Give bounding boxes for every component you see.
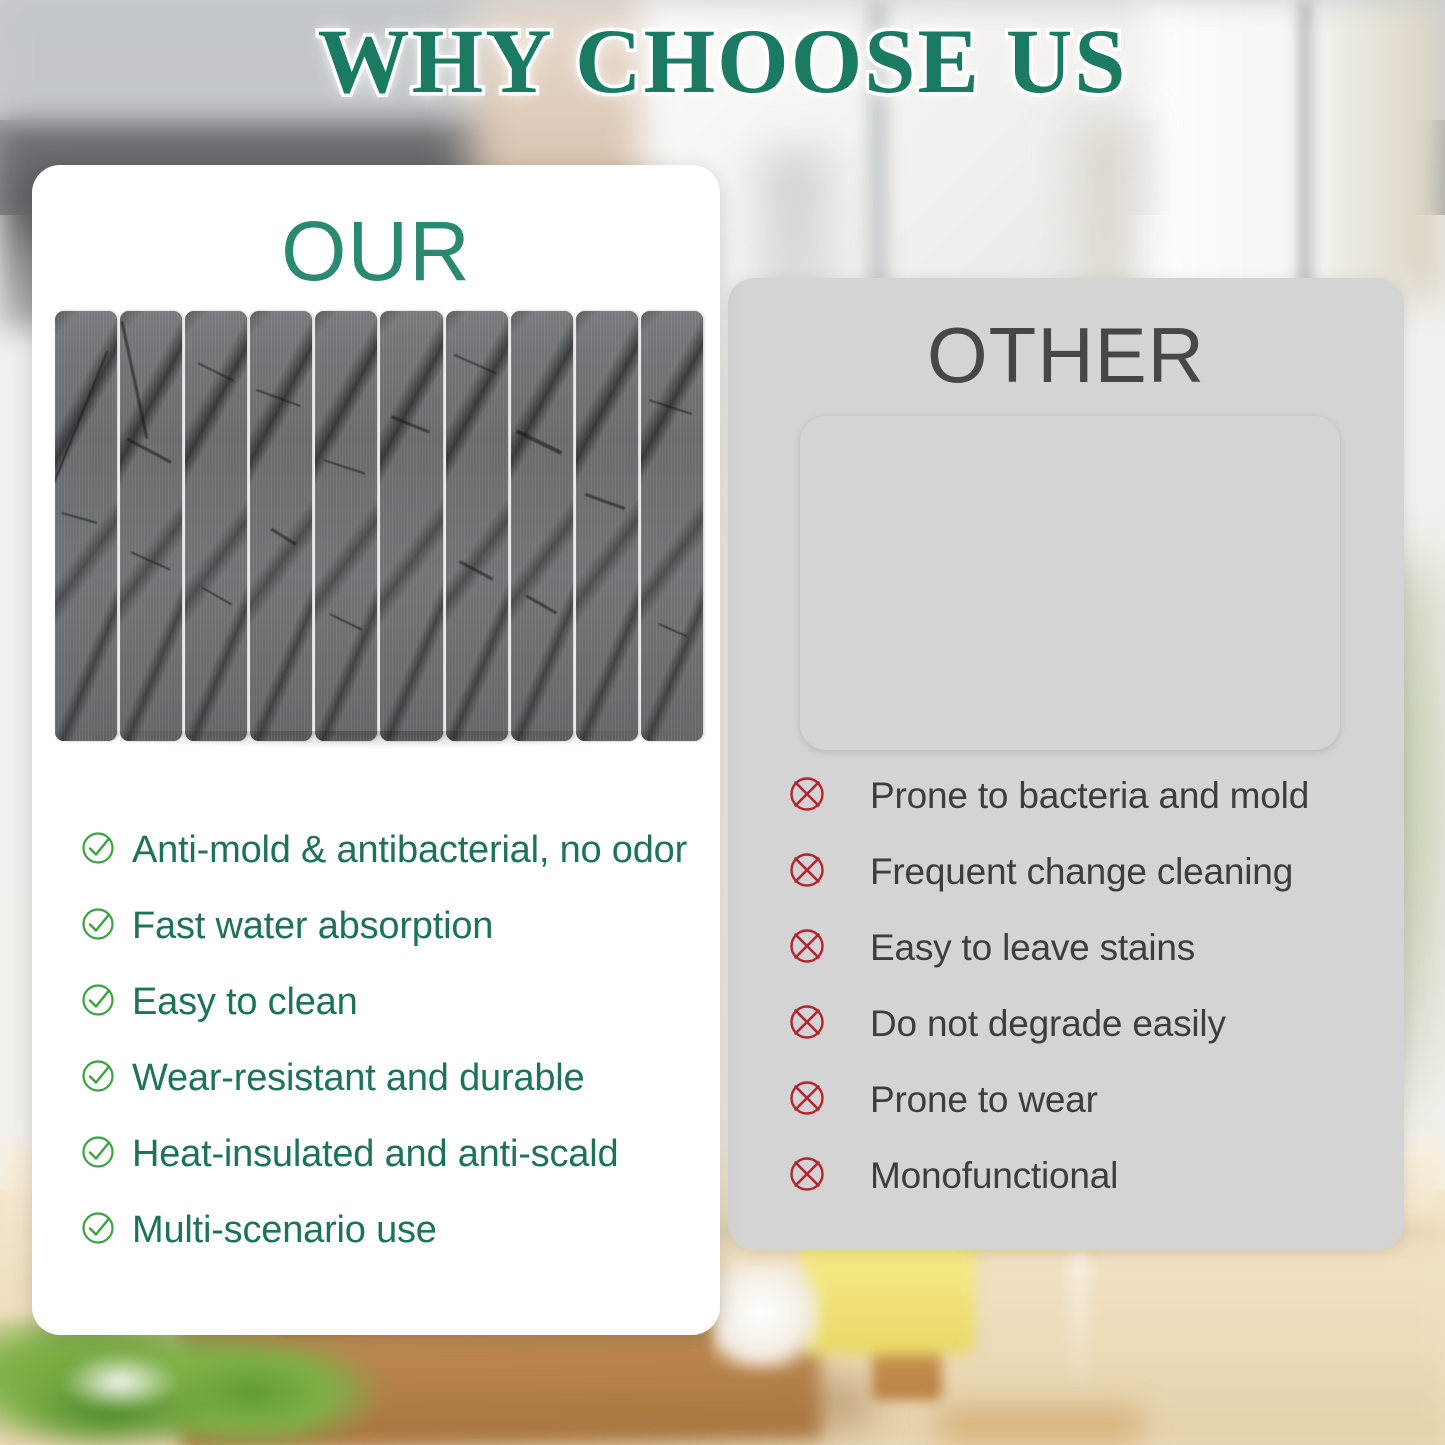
list-item: Wear-resistant and durable xyxy=(78,1040,708,1116)
page-title: WHY CHOOSE US xyxy=(0,8,1445,114)
background-juice-highlight xyxy=(1068,1250,1090,1400)
list-item: Fast water absorption xyxy=(78,888,708,964)
check-circle-icon xyxy=(78,980,118,1025)
check-circle-icon xyxy=(78,1056,118,1101)
mat-slat xyxy=(511,311,573,741)
cross-circle-icon xyxy=(786,1001,828,1048)
mat-slat xyxy=(55,311,117,741)
our-card: OUR Anti-mold & antibacter xyxy=(32,165,720,1335)
mat-slat xyxy=(315,311,377,741)
other-card-title: OTHER xyxy=(728,310,1404,401)
other-drawback-list: Prone to bacteria and mold Frequent chan… xyxy=(786,758,1386,1214)
check-circle-icon xyxy=(78,1208,118,1253)
list-item: Anti-mold & antibacterial, no odor xyxy=(78,812,708,888)
list-item-label: Frequent change cleaning xyxy=(870,851,1293,893)
list-item-label: Easy to clean xyxy=(132,981,358,1024)
infographic-canvas: WHY CHOOSE US OTHER Prone to bacteria an… xyxy=(0,0,1445,1445)
mat-slat xyxy=(250,311,312,741)
list-item-label: Prone to wear xyxy=(870,1079,1098,1121)
mat-slat xyxy=(120,311,182,741)
mat-slat xyxy=(446,311,508,741)
cross-circle-icon xyxy=(786,1077,828,1124)
our-feature-list: Anti-mold & antibacterial, no odor Fast … xyxy=(78,812,708,1268)
list-item: Monofunctional xyxy=(786,1138,1386,1214)
check-circle-icon xyxy=(78,904,118,949)
other-card: OTHER Prone to bacteria and mold xyxy=(728,278,1404,1250)
mat-slat xyxy=(641,311,703,741)
check-circle-icon xyxy=(78,828,118,873)
list-item-label: Prone to bacteria and mold xyxy=(870,775,1309,817)
list-item: Easy to leave stains xyxy=(786,910,1386,986)
mat-slat xyxy=(185,311,247,741)
list-item-label: Monofunctional xyxy=(870,1155,1118,1197)
list-item: Easy to clean xyxy=(78,964,708,1040)
cross-circle-icon xyxy=(786,849,828,896)
list-item-label: Multi-scenario use xyxy=(132,1209,437,1252)
background-herb-flowers xyxy=(60,1352,180,1412)
list-item: Do not degrade easily xyxy=(786,986,1386,1062)
list-item: Frequent change cleaning xyxy=(786,834,1386,910)
list-item-label: Fast water absorption xyxy=(132,905,493,948)
list-item: Heat-insulated and anti-scald xyxy=(78,1116,708,1192)
list-item-label: Do not degrade easily xyxy=(870,1003,1226,1045)
mat-slat xyxy=(380,311,442,741)
our-product-image xyxy=(55,311,703,741)
list-item: Multi-scenario use xyxy=(78,1192,708,1268)
list-item-label: Wear-resistant and durable xyxy=(132,1057,584,1100)
mat-slat xyxy=(576,311,638,741)
our-product-shadow xyxy=(60,731,700,749)
check-circle-icon xyxy=(78,1132,118,1177)
list-item: Prone to wear xyxy=(786,1062,1386,1138)
list-item-label: Heat-insulated and anti-scald xyxy=(132,1133,618,1176)
list-item: Prone to bacteria and mold xyxy=(786,758,1386,834)
background-white-mug xyxy=(712,1265,822,1370)
cross-circle-icon xyxy=(786,925,828,972)
list-item-label: Anti-mold & antibacterial, no odor xyxy=(132,829,687,872)
other-product-image xyxy=(800,416,1340,750)
list-item-label: Easy to leave stains xyxy=(870,927,1195,969)
our-card-title: OUR xyxy=(32,203,720,300)
cross-circle-icon xyxy=(786,773,828,820)
cross-circle-icon xyxy=(786,1153,828,1200)
